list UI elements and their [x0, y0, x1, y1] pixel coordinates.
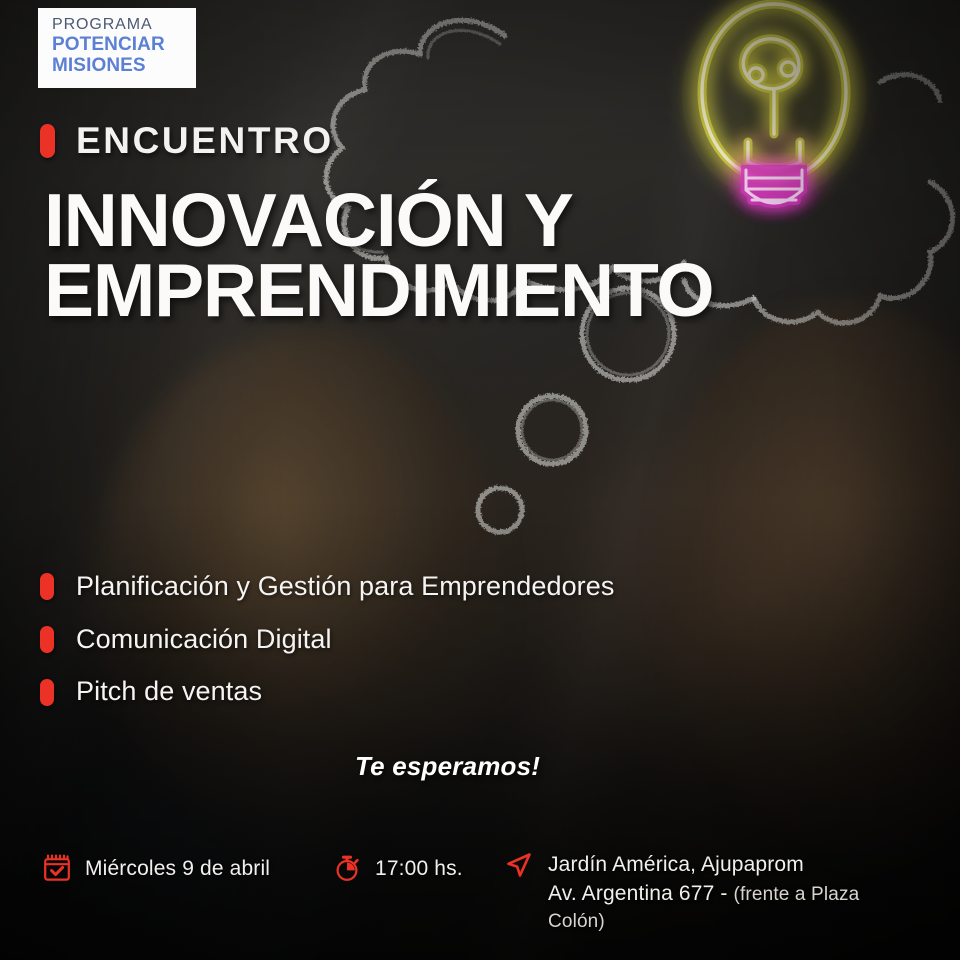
event-date-value: Miércoles 9 de abril [85, 853, 270, 884]
topics-list: Planificación y Gestión para Emprendedor… [40, 572, 615, 707]
pill-bullet-icon [40, 573, 54, 600]
event-time-value: 17:00 hs. [375, 853, 463, 884]
event-location: Jardín América, Ajupaprom Av. Argentina … [503, 849, 908, 935]
list-item: Pitch de ventas [40, 677, 615, 707]
topic-label: Pitch de ventas [76, 677, 262, 707]
list-item: Comunicación Digital [40, 625, 615, 655]
pill-bullet-icon [40, 679, 54, 706]
topic-label: Planificación y Gestión para Emprendedor… [76, 572, 615, 602]
pill-bullet-icon [40, 124, 55, 158]
location-line-2: Av. Argentina 677 - (frente a Plaza [548, 880, 908, 909]
location-note-b: Colón) [548, 909, 908, 935]
event-time: 17:00 hs. [332, 853, 463, 884]
logo-line-programa: PROGRAMA [52, 17, 196, 34]
topic-label: Comunicación Digital [76, 625, 332, 655]
calendar-check-icon [42, 853, 72, 883]
navigation-arrow-icon [503, 849, 535, 883]
program-logo: PROGRAMA POTENCIAR MISIONES [38, 8, 196, 88]
kicker-label: ENCUENTRO [76, 122, 334, 159]
location-note-a: (frente a Plaza [734, 884, 860, 905]
logo-line-misiones: MISIONES [52, 55, 196, 76]
page-title: INNOVACIÓN Y EMPRENDIMIENTO [44, 186, 764, 326]
stopwatch-icon [332, 853, 362, 883]
location-street: Av. Argentina 677 - [548, 882, 734, 905]
kicker-row: ENCUENTRO [40, 122, 334, 159]
location-line-1: Jardín América, Ajupaprom [548, 851, 908, 880]
event-date: Miércoles 9 de abril [42, 853, 270, 884]
event-location-value: Jardín América, Ajupaprom Av. Argentina … [548, 849, 908, 935]
title-line-2: EMPRENDIMIENTO [44, 256, 764, 326]
logo-line-potenciar: POTENCIAR [52, 34, 196, 55]
tagline: Te esperamos! [355, 751, 540, 782]
pill-bullet-icon [40, 626, 54, 653]
event-flyer: PROGRAMA POTENCIAR MISIONES ENCUENTRO IN… [0, 0, 960, 960]
list-item: Planificación y Gestión para Emprendedor… [40, 572, 615, 602]
